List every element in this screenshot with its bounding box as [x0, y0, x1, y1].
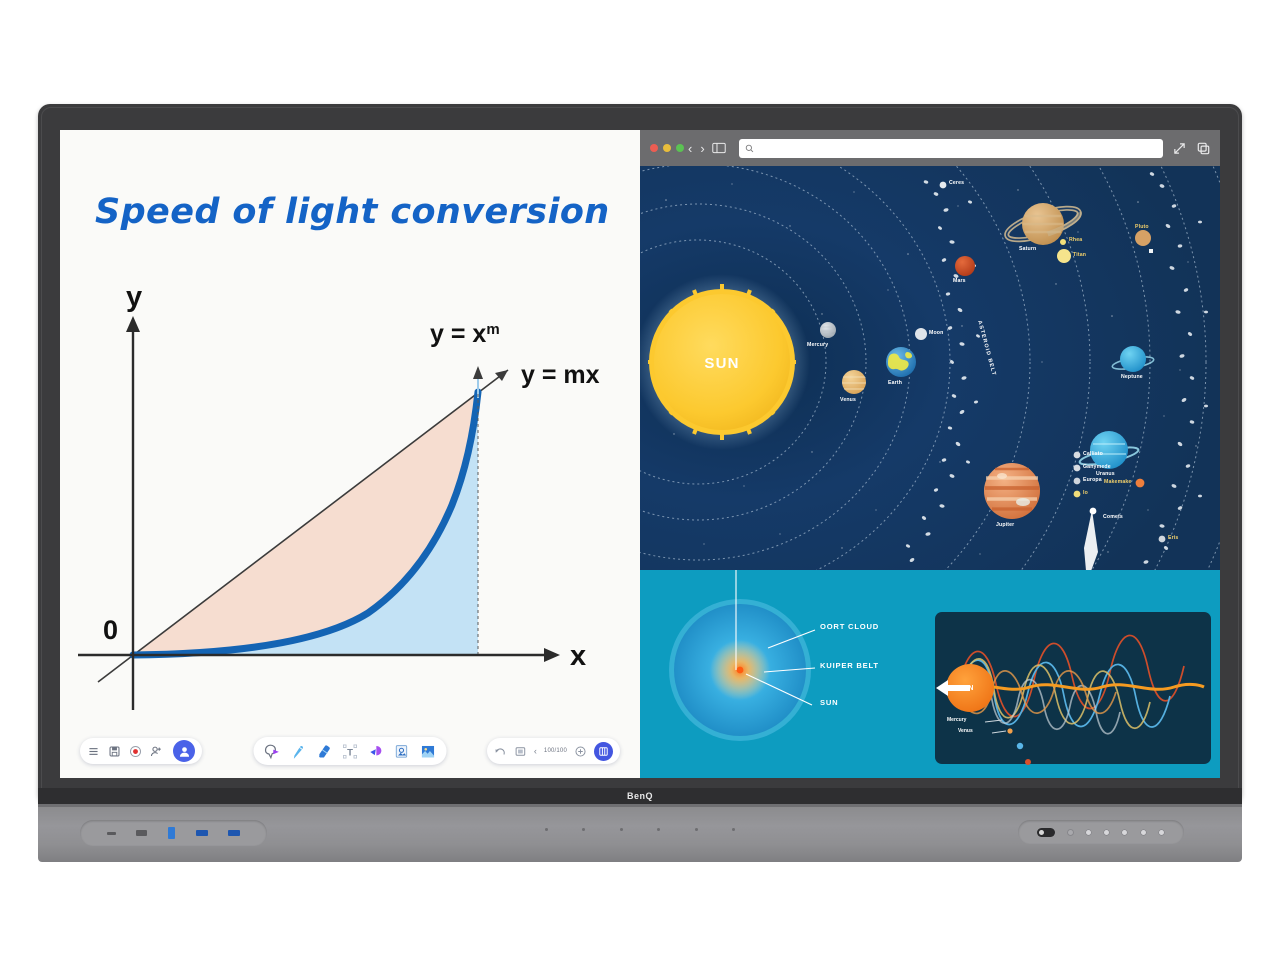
label-jupiter: Jupiter — [996, 522, 1014, 528]
menu-icon[interactable] — [87, 745, 100, 758]
menu-button[interactable] — [1085, 829, 1092, 836]
add-user-icon[interactable] — [150, 745, 163, 758]
oort-cloud-svg — [640, 570, 1220, 778]
window-controls[interactable] — [650, 144, 684, 152]
speaker-grille — [545, 828, 735, 831]
label-kuiper-belt: KUIPER BELT — [820, 661, 879, 670]
label-moon: Moon — [929, 330, 943, 336]
browser-chrome: ‹ › — [640, 130, 1220, 166]
port-dc-in — [107, 832, 116, 835]
label-ganymede: Ganymede — [1083, 464, 1111, 470]
label-titan: Titan — [1073, 252, 1086, 258]
undo-icon[interactable] — [494, 745, 507, 758]
back-button[interactable]: ‹ — [688, 142, 692, 155]
label-mercury: Mercury — [807, 342, 828, 348]
label-pluto: Pluto — [1135, 224, 1149, 230]
text-tool-icon[interactable]: T — [341, 742, 360, 761]
power-button[interactable] — [1067, 829, 1074, 836]
label-helix-sun: SUN — [957, 685, 974, 692]
label-saturn: Saturn — [1019, 246, 1036, 252]
display-chassis: Speed of light conversion — [38, 104, 1242, 804]
address-bar[interactable] — [739, 139, 1163, 158]
expand-icon[interactable] — [1173, 142, 1186, 155]
inner-sun-dot — [737, 667, 744, 674]
svg-text:T: T — [347, 747, 353, 758]
minimize-window-icon[interactable] — [663, 144, 671, 152]
search-input[interactable] — [759, 142, 1157, 155]
search-icon — [745, 144, 754, 153]
control-panel[interactable] — [1018, 820, 1184, 844]
image-tool-icon[interactable] — [419, 742, 438, 761]
maximize-window-icon[interactable] — [676, 144, 684, 152]
planet-earth — [886, 347, 916, 377]
whiteboard-toolbar-center: T — [254, 738, 447, 764]
eraser-tool-icon[interactable] — [315, 742, 334, 761]
select-tool-icon[interactable] — [263, 742, 282, 761]
solar-system-diagram: SUN — [640, 166, 1220, 570]
browser-content: SUN — [640, 166, 1220, 778]
duplicate-window-icon[interactable] — [1197, 142, 1210, 155]
pen-tool-icon[interactable] — [289, 742, 308, 761]
whiteboard-title: Speed of light conversion — [95, 192, 610, 232]
moon-body — [915, 328, 927, 340]
label-helix-mercury: Mercury — [947, 717, 966, 723]
curve-annotation: y = xm — [430, 320, 500, 348]
close-window-icon[interactable] — [650, 144, 658, 152]
volume-down-button[interactable] — [1103, 829, 1110, 836]
display-base: BenQ — [38, 804, 1242, 862]
sticky-note-icon[interactable] — [393, 742, 412, 761]
brand-strip: BenQ — [38, 788, 1242, 804]
origin-label: 0 — [103, 615, 118, 645]
page-indicator: 100/100 — [544, 748, 567, 754]
label-eris: Eris — [1168, 535, 1178, 541]
label-inner-sun: SUN — [820, 698, 838, 707]
display-screen: Speed of light conversion — [60, 130, 1220, 778]
base-edge — [38, 804, 1242, 807]
dwarf-makemake-dot — [1136, 479, 1145, 488]
graph-canvas: y x 0 y = xm y = mx — [78, 280, 638, 720]
dwarf-ceres — [940, 182, 947, 189]
home-button[interactable] — [1158, 829, 1165, 836]
planet-mercury — [820, 322, 836, 338]
input-source-button[interactable] — [1140, 829, 1147, 836]
solar-system-svg: SUN — [640, 166, 1220, 570]
planet-venus — [842, 370, 866, 394]
label-neptune: Neptune — [1121, 374, 1143, 380]
line-annotation: y = mx — [521, 361, 600, 389]
port-hdmi — [136, 830, 147, 836]
label-rhea: Rhea — [1069, 237, 1082, 243]
label-earth: Earth — [888, 380, 902, 386]
label-europa: Europa — [1083, 477, 1102, 483]
screenshot-root: Speed of light conversion — [0, 0, 1280, 960]
save-icon[interactable] — [108, 745, 121, 758]
oort-cloud-diagram: OORT CLOUD KUIPER BELT SUN SUN Mercury V… — [640, 570, 1220, 778]
label-helix-venus: Venus — [958, 728, 973, 734]
duplicate-page-icon[interactable] — [514, 745, 527, 758]
port-usb-a-2 — [228, 830, 240, 836]
browser-window: ‹ › — [640, 130, 1220, 778]
panel-layout-icon[interactable] — [594, 742, 613, 761]
axis-label-y: y — [126, 281, 142, 313]
port-usb-a-1 — [196, 830, 208, 836]
whiteboard-app: Speed of light conversion — [60, 130, 640, 778]
record-icon[interactable] — [129, 745, 142, 758]
planet-jupiter — [984, 463, 1040, 519]
brand-logo: BenQ — [627, 791, 653, 801]
account-avatar[interactable] — [173, 740, 195, 762]
whiteboard-toolbar-right: ‹ 100/100 — [487, 738, 620, 764]
power-switch[interactable] — [1037, 828, 1055, 837]
planet-mars — [955, 256, 975, 276]
label-mars: Mars — [953, 278, 966, 284]
volume-up-button[interactable] — [1121, 829, 1128, 836]
label-makemake: Makemake — [1104, 479, 1131, 485]
label-io: Io — [1083, 490, 1088, 496]
sun-label: SUN — [704, 355, 739, 372]
label-oort-cloud: OORT CLOUD — [820, 622, 879, 631]
sidebar-icon[interactable] — [712, 142, 726, 154]
label-venus: Venus — [840, 397, 856, 403]
whiteboard-toolbar-left — [80, 738, 202, 764]
port-panel — [80, 820, 267, 846]
port-usb-c — [168, 827, 175, 839]
label-comets: Comets — [1103, 514, 1123, 520]
dwarf-eris-dot — [1159, 536, 1166, 543]
helix-inset — [935, 612, 1211, 765]
axis-label-x: x — [570, 640, 586, 672]
label-callisto: Callisto — [1083, 451, 1103, 457]
shape-tool-icon[interactable] — [367, 742, 386, 761]
add-page-icon[interactable] — [574, 745, 587, 758]
label-ceres: Ceres — [949, 180, 964, 186]
prev-page-button[interactable]: ‹ — [534, 747, 537, 756]
forward-button[interactable]: › — [700, 142, 704, 155]
